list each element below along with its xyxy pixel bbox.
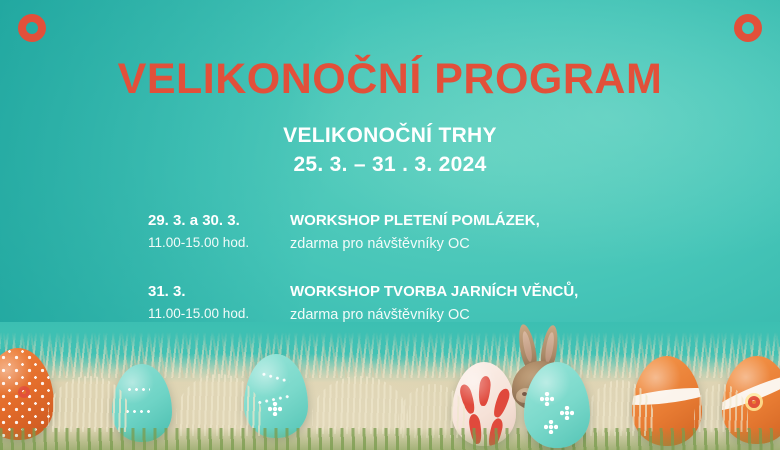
event-title: WORKSHOP TVORBA JARNÍCH VĚNCŮ,: [290, 281, 780, 304]
egg-flower-motif: [540, 392, 554, 406]
egg-flower-motif: [544, 420, 558, 434]
subtitle-line-1: VELIKONOČNÍ TRHY: [0, 122, 780, 151]
event-when: 31. 3. 11.00-15.00 hod.: [148, 281, 290, 324]
event-what: WORKSHOP PLETENÍ POMLÁZEK, zdarma pro ná…: [290, 210, 780, 255]
egg-flame-motif: [477, 376, 491, 407]
egg-ring-logo-icon: [748, 396, 760, 408]
event-time: 11.00-15.00 hod.: [148, 304, 290, 325]
egg-dot-line: [126, 386, 150, 393]
event-row: 31. 3. 11.00-15.00 hod. WORKSHOP TVORBA …: [148, 281, 780, 326]
egg-flower-motif: [268, 402, 282, 416]
page-title: VELIKONOČNÍ PROGRAM: [0, 57, 780, 102]
event-row: 29. 3. a 30. 3. 11.00-15.00 hod. WORKSHO…: [148, 210, 780, 255]
event-when: 29. 3. a 30. 3. 11.00-15.00 hod.: [148, 210, 290, 253]
orange-dotted-egg: [0, 348, 54, 440]
event-title: WORKSHOP PLETENÍ POMLÁZEK,: [290, 210, 780, 233]
easter-program-poster: VELIKONOČNÍ PROGRAM VELIKONOČNÍ TRHY 25.…: [0, 0, 780, 450]
event-note: zdarma pro návštěvníky OC: [290, 233, 780, 255]
event-date: 31. 3.: [148, 281, 290, 304]
egg-dot-line: [260, 370, 291, 385]
event-what: WORKSHOP TVORBA JARNÍCH VĚNCŮ, zdarma pr…: [290, 281, 780, 326]
grass-base: [0, 428, 780, 450]
event-note: zdarma pro návštěvníky OC: [290, 304, 780, 326]
egg-flower-motif: [560, 406, 574, 420]
event-time: 11.00-15.00 hod.: [148, 233, 290, 254]
event-date: 29. 3. a 30. 3.: [148, 210, 290, 233]
poster-content: VELIKONOČNÍ PROGRAM VELIKONOČNÍ TRHY 25.…: [0, 0, 780, 352]
egg-ring-logo-icon: [18, 386, 30, 398]
event-list: 29. 3. a 30. 3. 11.00-15.00 hod. WORKSHO…: [0, 210, 780, 326]
subtitle-block: VELIKONOČNÍ TRHY 25. 3. – 31 . 3. 2024: [0, 122, 780, 180]
subtitle-line-2: 25. 3. – 31 . 3. 2024: [0, 151, 780, 180]
